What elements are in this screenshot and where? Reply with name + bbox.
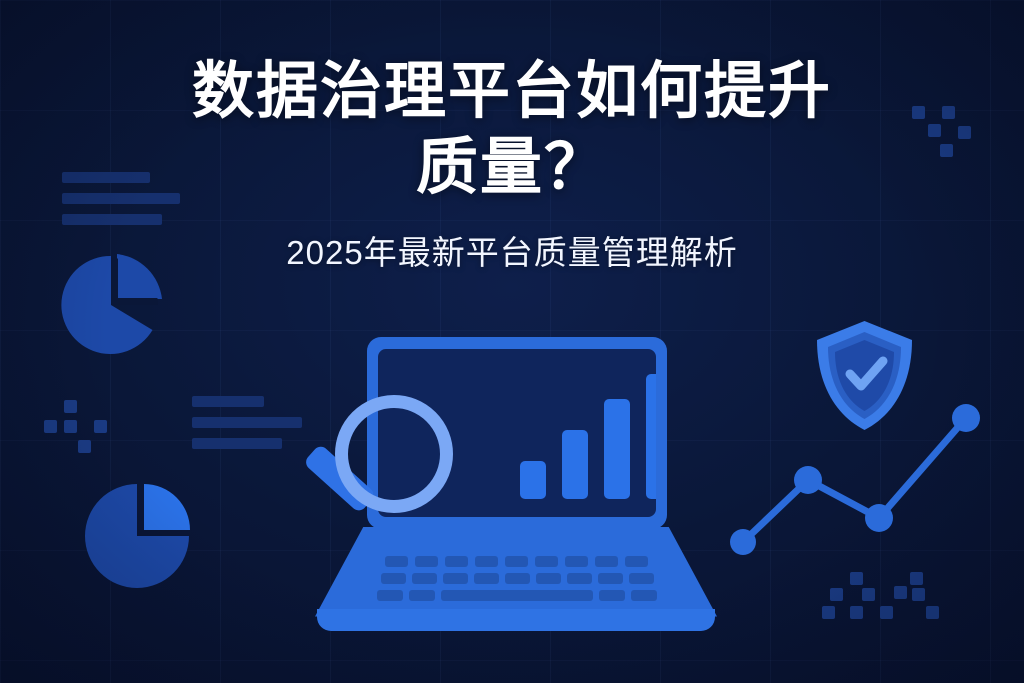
pie-chart-bottom [82,478,200,596]
screen-bar-3 [604,399,630,499]
magnifier-ring [335,395,453,513]
page-subtitle: 2025年最新平台质量管理解析 [0,226,1024,274]
laptop-spacebar [441,590,593,601]
laptop-base-lip [317,609,715,631]
screen-bar-4 [646,374,656,499]
headline-block: 数据治理平台如何提升 质量？ 2025年最新平台质量管理解析 [0,56,1024,274]
poster-canvas: 数据治理平台如何提升 质量？ 2025年最新平台质量管理解析 [0,0,1024,683]
shield-check-illustration [812,318,917,433]
shield-check-icon [812,318,917,433]
pie-chart-icon [82,478,200,596]
deco-bar-group-mid [192,396,302,459]
page-title-line1: 数据治理平台如何提升 [0,56,1024,128]
magnifier-illustration [288,395,463,565]
screen-bar-1 [520,461,546,499]
deco-dot-matrix-bottom-right [822,572,952,652]
screen-bar-2 [562,430,588,499]
page-title-line2: 质量？ [0,132,1024,204]
deco-dot-matrix-mid-left [38,398,128,468]
